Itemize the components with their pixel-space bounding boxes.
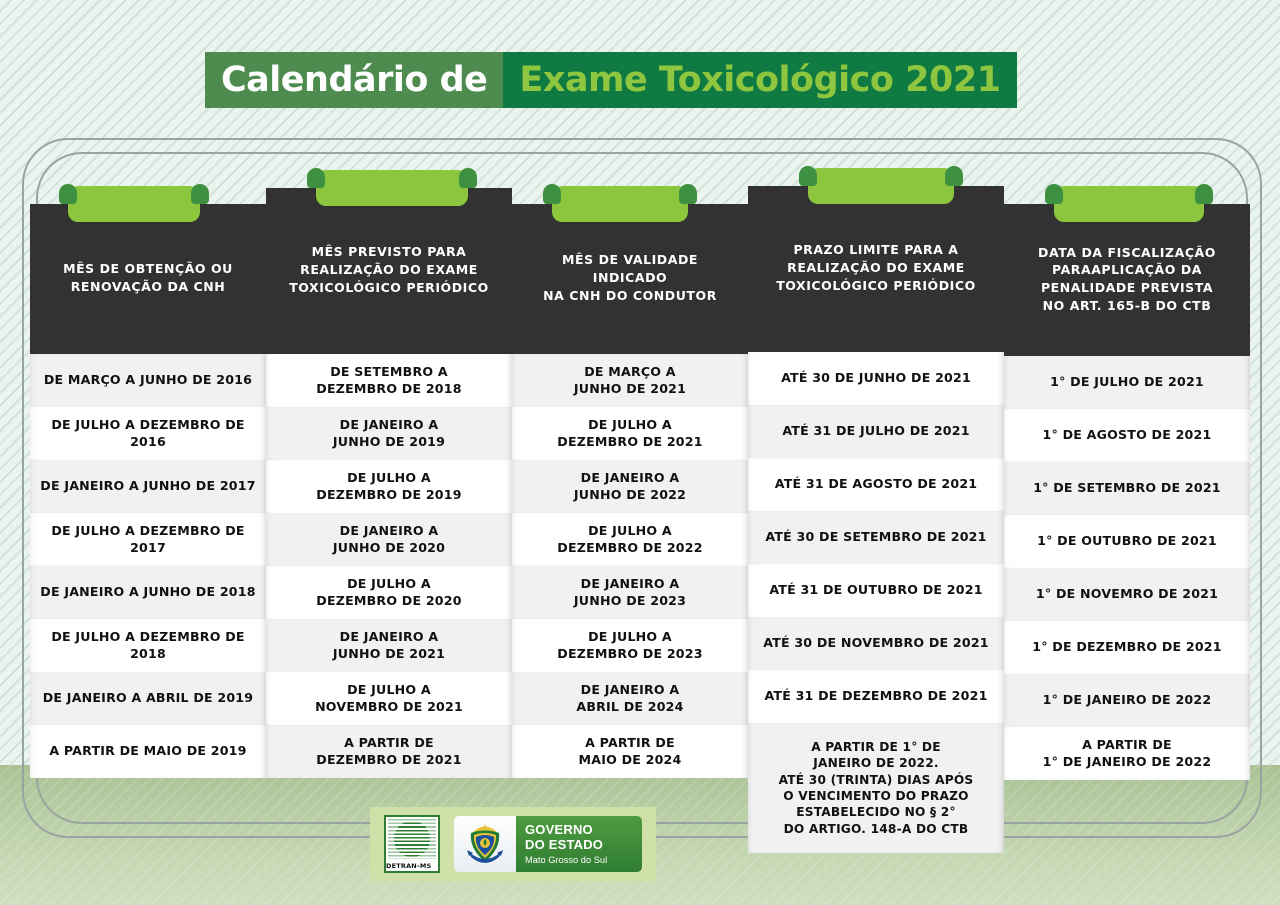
table-cell-text: DE JULHO A DEZEMBRO DE 2017: [38, 523, 258, 556]
column-cells-1: DE MARÇO A JUNHO DE 2016DE JULHO A DEZEM…: [30, 354, 266, 778]
table-cell-text: DE JULHO ADEZEMBRO DE 2023: [557, 629, 702, 662]
table-cell-text: DE JULHO ADEZEMBRO DE 2022: [557, 523, 702, 556]
table-cell: 1° DE NOVEMRO DE 2021: [1004, 568, 1250, 621]
column-header-3: MÊS DE VALIDADE INDICADONA CNH DO CONDUT…: [512, 204, 748, 354]
table-cell-text: DE JANEIRO AABRIL DE 2024: [576, 682, 683, 715]
tab-ring-right-icon: [459, 168, 477, 188]
title-right-segment: Exame Toxicológico 2021: [503, 52, 1016, 108]
detran-logo-label: DETRAN-MS: [386, 862, 438, 870]
table-cell-text: DE JANEIRO AJUNHO DE 2021: [333, 629, 445, 662]
tab-ring-left-icon: [1045, 184, 1063, 204]
table-cell-text: DE MARÇO A JUNHO DE 2016: [44, 372, 252, 388]
detran-ms-logo: DETRAN-MS: [384, 815, 440, 873]
column-header-5: DATA DA FISCALIZAÇÃOPARAAPLICAÇÃO DAPENA…: [1004, 204, 1250, 356]
table-cell-text: ATÉ 31 DE AGOSTO DE 2021: [775, 476, 978, 492]
table-cell: DE JULHO ADEZEMBRO DE 2020: [266, 566, 512, 619]
tab-ring-left-icon: [543, 184, 561, 204]
column-tab-5: [1054, 186, 1204, 222]
table-cell-text: 1° DE JANEIRO DE 2022: [1043, 692, 1212, 708]
table-cell: DE JANEIRO AJUNHO DE 2023: [512, 566, 748, 619]
table-cell: A PARTIR DE 1° DEJANEIRO DE 2022.ATÉ 30 …: [748, 723, 1004, 853]
table-cell-text: A PARTIR DEMAIO DE 2024: [579, 735, 682, 768]
column-cells-5: 1° DE JULHO DE 20211° DE AGOSTO DE 20211…: [1004, 356, 1250, 780]
table-cell-text: A PARTIR DE1° DE JANEIRO DE 2022: [1043, 737, 1212, 770]
table-cell: ATÉ 31 DE OUTUBRO DE 2021: [748, 564, 1004, 617]
table-cell-text: 1° DE AGOSTO DE 2021: [1043, 427, 1212, 443]
table-cell-text: DE JULHO A DEZEMBRO DE 2018: [38, 629, 258, 662]
table-cell-text: A PARTIR DE MAIO DE 2019: [49, 743, 246, 759]
table-cell: ATÉ 31 DE AGOSTO DE 2021: [748, 458, 1004, 511]
table-cell-text: DE JANEIRO A ABRIL DE 2019: [43, 690, 253, 706]
governo-do-estado-logo: GOVERNO DO ESTADO Mato Grosso do Sul: [454, 816, 642, 872]
table-cell: DE JULHO ADEZEMBRO DE 2023: [512, 619, 748, 672]
table-cell-text: ATÉ 30 DE NOVEMBRO DE 2021: [763, 635, 989, 651]
table-cell-text: 1° DE OUTUBRO DE 2021: [1037, 533, 1217, 549]
infographic-page: Calendário de Exame Toxicológico 2021 MÊ…: [0, 0, 1280, 905]
table-cell: DE JANEIRO A ABRIL DE 2019: [30, 672, 266, 725]
column-tab-4: [808, 168, 954, 204]
table-cell-text: A PARTIR DE 1° DEJANEIRO DE 2022.ATÉ 30 …: [779, 739, 974, 838]
column-cells-3: DE MARÇO AJUNHO DE 2021DE JULHO ADEZEMBR…: [512, 354, 748, 778]
governo-subtitle: Mato Grosso do Sul: [525, 855, 642, 865]
table-cell-text: DE JULHO ADEZEMBRO DE 2020: [316, 576, 461, 609]
table-cell-text: 1° DE JULHO DE 2021: [1050, 374, 1204, 390]
table-cell: ATÉ 30 DE JUNHO DE 2021: [748, 352, 1004, 405]
table-cell: DE JULHO A DEZEMBRO DE 2018: [30, 619, 266, 672]
table-cell: DE JANEIRO A JUNHO DE 2017: [30, 460, 266, 513]
column-cells-2: DE SETEMBRO ADEZEMBRO DE 2018DE JANEIRO …: [266, 354, 512, 778]
table-cell-text: DE JULHO A DEZEMBRO DE 2016: [38, 417, 258, 450]
governo-line-2: DO ESTADO: [525, 838, 642, 853]
table-cell-text: ATÉ 31 DE OUTUBRO DE 2021: [769, 582, 982, 598]
table-cell-text: DE JULHO ADEZEMBRO DE 2019: [316, 470, 461, 503]
table-cell-text: DE JULHO ANOVEMBRO DE 2021: [315, 682, 463, 715]
column-header-1: MÊS DE OBTENÇÃO OURENOVAÇÃO DA CNH: [30, 204, 266, 354]
column-tab-1: [68, 186, 200, 222]
table-cell-text: DE MARÇO AJUNHO DE 2021: [574, 364, 686, 397]
table-cell: DE JANEIRO AJUNHO DE 2020: [266, 513, 512, 566]
coat-of-arms-icon: [465, 822, 505, 866]
tab-ring-right-icon: [679, 184, 697, 204]
table-cell-text: A PARTIR DEDEZEMBRO DE 2021: [316, 735, 461, 768]
table-cell: DE MARÇO A JUNHO DE 2016: [30, 354, 266, 407]
table-cell: A PARTIR DE MAIO DE 2019: [30, 725, 266, 778]
table-cell: ATÉ 31 DE JULHO DE 2021: [748, 405, 1004, 458]
table-cell: DE JULHO ANOVEMBRO DE 2021: [266, 672, 512, 725]
table-cell-text: 1° DE SETEMBRO DE 2021: [1033, 480, 1221, 496]
table-cell-text: ATÉ 31 DE JULHO DE 2021: [782, 423, 969, 439]
table-cell: A PARTIR DEMAIO DE 2024: [512, 725, 748, 778]
table-cell-text: DE JULHO ADEZEMBRO DE 2021: [557, 417, 702, 450]
table-cell: DE SETEMBRO ADEZEMBRO DE 2018: [266, 354, 512, 407]
table-cell: DE JULHO ADEZEMBRO DE 2019: [266, 460, 512, 513]
table-cell-text: DE JANEIRO A JUNHO DE 2018: [40, 584, 255, 600]
table-cell: DE JANEIRO A JUNHO DE 2018: [30, 566, 266, 619]
calendar-table: MÊS DE OBTENÇÃO OURENOVAÇÃO DA CNHDE MAR…: [30, 180, 1250, 880]
column-header-text: PRAZO LIMITE PARA AREALIZAÇÃO DO EXAMETO…: [776, 241, 976, 294]
table-cell-text: DE JANEIRO AJUNHO DE 2019: [333, 417, 445, 450]
table-cell-text: 1° DE NOVEMRO DE 2021: [1036, 586, 1218, 602]
table-cell: ATÉ 30 DE SETEMBRO DE 2021: [748, 511, 1004, 564]
table-cell: 1° DE OUTUBRO DE 2021: [1004, 515, 1250, 568]
tab-ring-right-icon: [1195, 184, 1213, 204]
table-cell: DE JULHO A DEZEMBRO DE 2016: [30, 407, 266, 460]
table-cell: 1° DE SETEMBRO DE 2021: [1004, 462, 1250, 515]
tab-ring-left-icon: [59, 184, 77, 204]
column-header-text: MÊS DE OBTENÇÃO OURENOVAÇÃO DA CNH: [63, 260, 233, 296]
table-cell-text: DE JANEIRO A JUNHO DE 2017: [40, 478, 255, 494]
detran-globe-icon: [388, 819, 436, 859]
governo-line-1: GOVERNO: [525, 823, 642, 838]
table-cell: DE JANEIRO AJUNHO DE 2019: [266, 407, 512, 460]
column-cells-4: ATÉ 30 DE JUNHO DE 2021ATÉ 31 DE JULHO D…: [748, 352, 1004, 853]
table-cell: DE JANEIRO AJUNHO DE 2022: [512, 460, 748, 513]
table-cell: A PARTIR DE1° DE JANEIRO DE 2022: [1004, 727, 1250, 780]
table-cell-text: DE JANEIRO AJUNHO DE 2022: [574, 470, 686, 503]
column-tab-2: [316, 170, 468, 206]
table-cell: 1° DE JANEIRO DE 2022: [1004, 674, 1250, 727]
table-cell: 1° DE DEZEMBRO DE 2021: [1004, 621, 1250, 674]
tab-ring-left-icon: [307, 168, 325, 188]
tab-ring-left-icon: [799, 166, 817, 186]
table-cell: DE JANEIRO AJUNHO DE 2021: [266, 619, 512, 672]
column-header-text: DATA DA FISCALIZAÇÃOPARAAPLICAÇÃO DAPENA…: [1038, 244, 1216, 315]
table-cell-text: ATÉ 30 DE JUNHO DE 2021: [781, 370, 971, 386]
table-cell-text: DE JANEIRO AJUNHO DE 2023: [574, 576, 686, 609]
table-cell: ATÉ 30 DE NOVEMBRO DE 2021: [748, 617, 1004, 670]
table-cell-text: ATÉ 31 DE DEZEMBRO DE 2021: [764, 688, 987, 704]
governo-text-panel: GOVERNO DO ESTADO Mato Grosso do Sul: [516, 816, 642, 872]
coat-of-arms-panel: [454, 816, 516, 872]
table-cell: DE MARÇO AJUNHO DE 2021: [512, 354, 748, 407]
table-cell: DE JULHO A DEZEMBRO DE 2017: [30, 513, 266, 566]
column-header-text: MÊS PREVISTO PARAREALIZAÇÃO DO EXAMETOXI…: [289, 243, 489, 296]
column-header-text: MÊS DE VALIDADE INDICADONA CNH DO CONDUT…: [524, 251, 736, 304]
tab-ring-right-icon: [191, 184, 209, 204]
table-cell-text: DE SETEMBRO ADEZEMBRO DE 2018: [316, 364, 461, 397]
table-cell: ATÉ 31 DE DEZEMBRO DE 2021: [748, 670, 1004, 723]
column-header-4: PRAZO LIMITE PARA AREALIZAÇÃO DO EXAMETO…: [748, 186, 1004, 352]
column-tab-3: [552, 186, 688, 222]
table-cell-text: ATÉ 30 DE SETEMBRO DE 2021: [765, 529, 986, 545]
table-cell-text: DE JANEIRO AJUNHO DE 2020: [333, 523, 445, 556]
tab-ring-right-icon: [945, 166, 963, 186]
table-cell: A PARTIR DEDEZEMBRO DE 2021: [266, 725, 512, 778]
footer-logos: DETRAN-MS: [370, 807, 656, 881]
table-cell: 1° DE AGOSTO DE 2021: [1004, 409, 1250, 462]
table-cell: DE JANEIRO AABRIL DE 2024: [512, 672, 748, 725]
title-banner: Calendário de Exame Toxicológico 2021: [205, 52, 1017, 108]
table-cell: DE JULHO ADEZEMBRO DE 2022: [512, 513, 748, 566]
table-cell: DE JULHO ADEZEMBRO DE 2021: [512, 407, 748, 460]
column-header-2: MÊS PREVISTO PARAREALIZAÇÃO DO EXAMETOXI…: [266, 188, 512, 354]
title-left-segment: Calendário de: [205, 52, 503, 108]
table-cell-text: 1° DE DEZEMBRO DE 2021: [1032, 639, 1222, 655]
table-cell: 1° DE JULHO DE 2021: [1004, 356, 1250, 409]
